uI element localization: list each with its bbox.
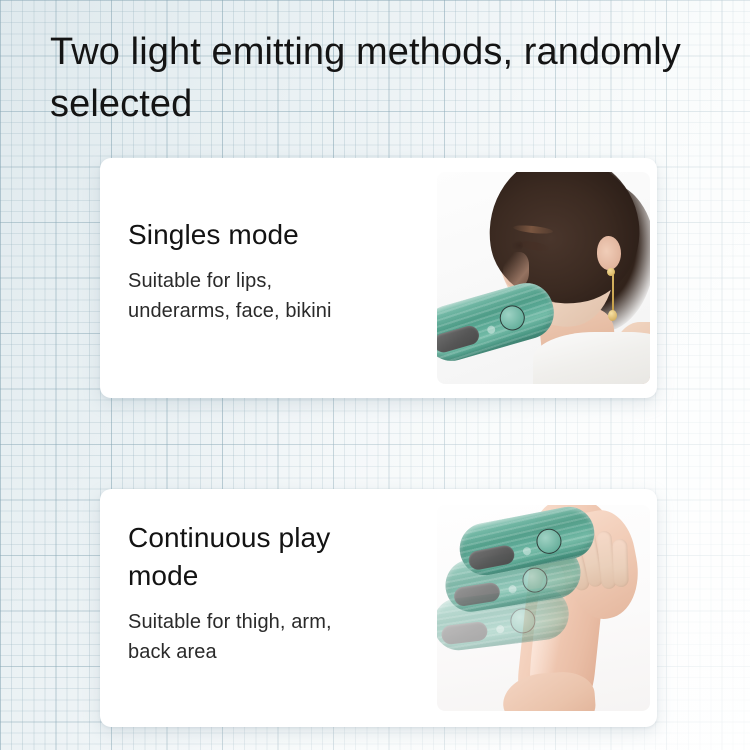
- product-feature-page: Two light emitting methods, randomly sel…: [0, 0, 750, 750]
- card-text-block: Continuous play mode Suitable for thigh,…: [128, 519, 428, 667]
- card-description: Suitable for lips, underarms, face, biki…: [128, 266, 428, 326]
- card-title: Continuous play mode: [128, 519, 428, 595]
- feature-card-singles-mode: Singles mode Suitable for lips, underarm…: [100, 158, 657, 398]
- card-photo-singles-mode: Woman in profile holding teal IPL hair r…: [437, 172, 650, 384]
- feature-card-continuous-play-mode: Continuous play mode Suitable for thigh,…: [100, 489, 657, 727]
- model-finger: [612, 539, 629, 587]
- model-ear: [597, 236, 621, 270]
- card-description: Suitable for thigh, arm, back area: [128, 607, 428, 667]
- earring-stud: [607, 268, 615, 276]
- card-photo-continuous-mode: Three ghosted teal IPL devices in motion…: [437, 505, 650, 711]
- card-text-block: Singles mode Suitable for lips, underarm…: [128, 216, 428, 326]
- earring-drop: [608, 310, 617, 321]
- page-title: Two light emitting methods, randomly sel…: [50, 26, 730, 130]
- card-title: Singles mode: [128, 216, 428, 254]
- earring-chain: [612, 275, 614, 311]
- model-white-top: [533, 332, 650, 384]
